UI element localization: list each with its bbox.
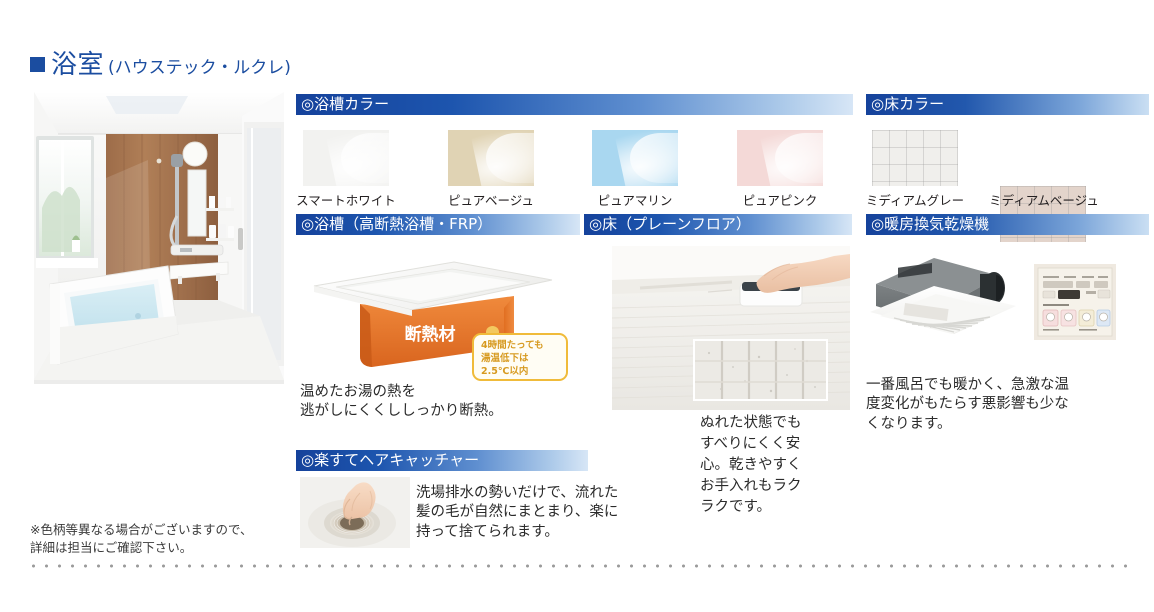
hair-catcher-photo	[300, 477, 410, 548]
page-title-sub: (ハウステック・ルクレ)	[108, 53, 291, 78]
disclaimer-note: ※色柄等異なる場合がございますので、 詳細は担当にご確認下さい。	[30, 521, 252, 556]
hair-catcher-caption: 洗場排水の勢いだけで、流れた 髪の毛が自然にまとまり、楽に 持って捨てられます。	[416, 484, 666, 542]
tub-swatch-label-pure-beige: ピュアベージュ	[441, 190, 541, 209]
temperature-callout: 4時間たっても 湯温低下は 2.5℃以内	[472, 333, 568, 381]
section-header-floor-color: ◎床カラー	[866, 94, 1149, 115]
section-header-dryer: ◎暖房換気乾燥機	[866, 214, 1149, 235]
floor-swatch-label-medium-gray: ミディアムグレー	[862, 190, 968, 209]
section-header-floor: ◎床（プレーンフロア）	[584, 214, 852, 235]
tub-swatch-label-pure-pink: ピュアピンク	[730, 190, 830, 209]
section-header-tub-color: ◎浴槽カラー	[296, 94, 853, 115]
floor-swatch-medium-gray[interactable]	[872, 130, 958, 186]
insulation-label: 断熱材	[405, 324, 456, 345]
tub-caption: 温めたお湯の熱を 逃がしにくくししっかり断熱。	[300, 383, 550, 422]
dryer-control-panel-photo	[1034, 264, 1116, 340]
tub-swatch-pure-beige[interactable]	[448, 130, 534, 186]
floor-photo	[612, 246, 850, 410]
dryer-caption: 一番風呂でも暖かく、急激な温 度変化がもたらす悪影響も少な くなります。	[866, 376, 1148, 434]
floor-texture-swatch-svg	[695, 341, 828, 401]
bathroom-photo	[28, 88, 290, 388]
tub-swatch-label-smart-white: スマートホワイト	[296, 190, 396, 209]
tub-swatch-pure-pink[interactable]	[737, 130, 823, 186]
floor-caption: ぬれた状態でも すべりにくく安 心。乾きやすく お手入れもラク ラクです。	[700, 413, 820, 517]
floor-color-swatches: ミディアムグレー ミディアムベージュ	[0, 0, 86, 112]
tile-grid-overlay	[872, 130, 958, 186]
section-header-tub: ◎浴槽（高断熱浴槽・FRP）	[296, 214, 580, 235]
tub-swatch-label-pure-marine: ピュアマリン	[585, 190, 685, 209]
floor-texture-inset	[693, 339, 828, 401]
section-header-hair-catcher: ◎楽すてヘアキャッチャー	[296, 450, 588, 471]
ceiling-dryer-unit-photo	[868, 250, 1018, 355]
tub-swatch-pure-marine[interactable]	[592, 130, 678, 186]
control-panel-svg	[1034, 264, 1116, 340]
hair-catcher-svg	[300, 477, 410, 548]
floor-swatch-label-medium-beige: ミディアムベージュ	[988, 190, 1100, 209]
tub-swatch-smart-white[interactable]	[303, 130, 389, 186]
dryer-unit-svg	[868, 250, 1018, 355]
bathroom-render-svg	[28, 88, 290, 388]
footer-dotted-rule	[27, 564, 1127, 568]
